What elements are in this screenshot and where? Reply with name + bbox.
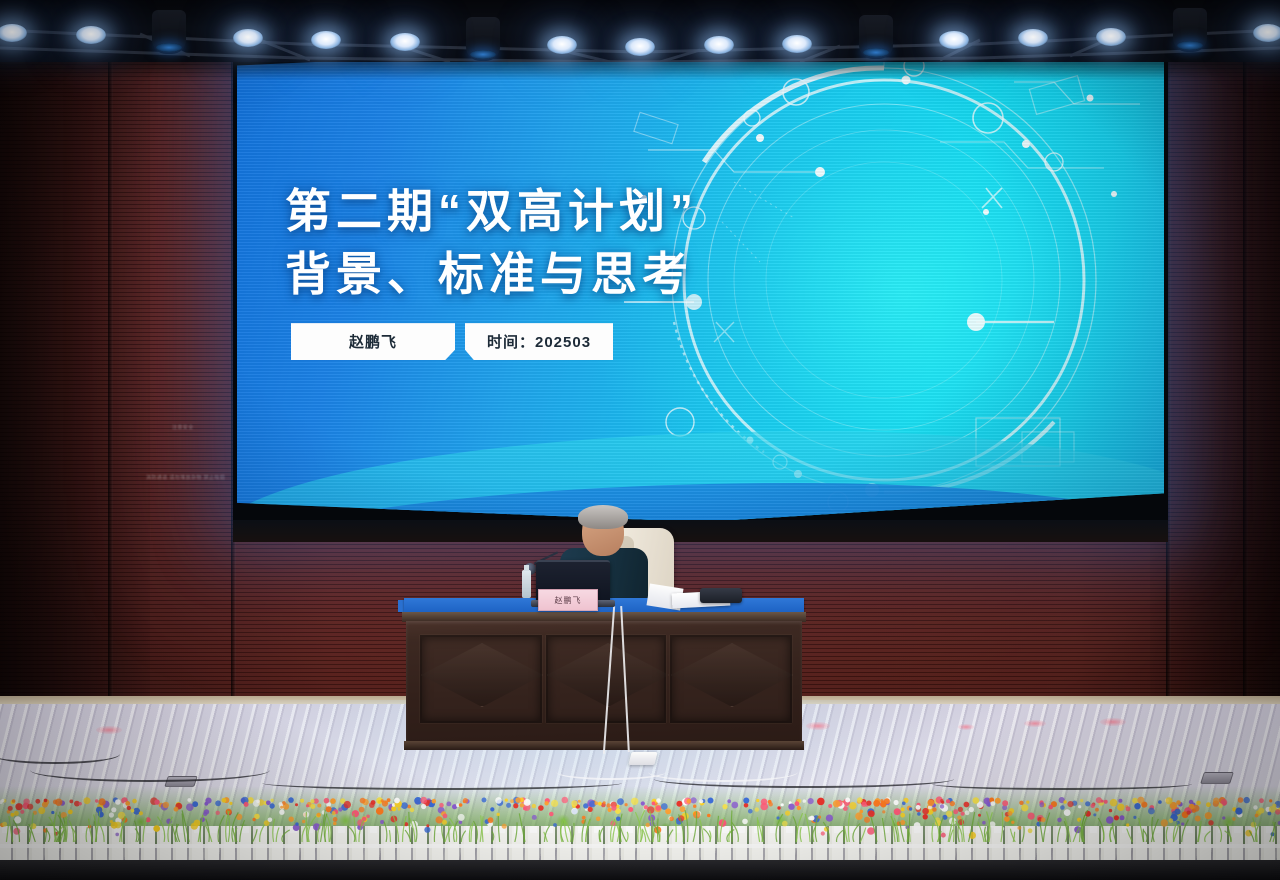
- floor-outlet-plate: [1200, 772, 1234, 784]
- speaker-hair: [578, 505, 628, 529]
- screen-lower-bezel: [233, 520, 1168, 542]
- moving-head-light: [152, 10, 186, 54]
- moving-head-light: [859, 15, 893, 59]
- planter-base-shadow: [0, 860, 1280, 880]
- power-strip: [628, 752, 657, 765]
- floor-light-spot: [1024, 720, 1046, 727]
- stage-light: [625, 38, 655, 56]
- stage-light: [939, 31, 969, 49]
- floor-light-spot: [96, 726, 122, 734]
- wall-shadow-right: [1150, 24, 1280, 714]
- picket-fence-rail: [0, 844, 1280, 848]
- moving-head-light: [1173, 8, 1207, 52]
- slide-title-line-2: 背景、标准与思考: [285, 243, 698, 306]
- stage-light: [782, 35, 812, 53]
- wall-sign-fire: 消防通道 请勿堆放杂物 禁止吸烟: [146, 474, 225, 481]
- floor-light-spot: [1100, 718, 1126, 726]
- stage-light: [1253, 24, 1280, 42]
- led-screen: 第二期“双高计划” 背景、标准与思考 赵鹏飞 时间：202503: [233, 30, 1168, 530]
- floor-light-spot: [958, 724, 974, 730]
- stage-light: [76, 26, 106, 44]
- slide-title-line-1: 第二期“双高计划”: [285, 180, 698, 243]
- stage-light: [547, 36, 577, 54]
- stage-light: [233, 29, 263, 47]
- wall-sign-notice: 注意安全: [172, 424, 194, 431]
- desk-nameplate: 赵鹏飞: [538, 589, 598, 611]
- stage-light: [1018, 29, 1048, 47]
- water-bottle: [522, 570, 531, 598]
- stage-photo-scene: 注意安全 消防通道 请勿堆放杂物 禁止吸烟: [0, 0, 1280, 880]
- badge-speaker-name: 赵鹏飞: [291, 323, 455, 360]
- flower-cluster: [0, 786, 1280, 842]
- flower-planter-row: [0, 786, 1280, 880]
- power-cable-floor: [648, 762, 798, 782]
- slide-text-block: 第二期“双高计划” 背景、标准与思考 赵鹏飞 时间：202503: [285, 180, 698, 360]
- floor-light-spot: [806, 722, 830, 730]
- moving-head-light: [466, 17, 500, 61]
- wall-shadow-left: [0, 24, 150, 714]
- stage-light: [1096, 28, 1126, 46]
- bag-case: [700, 588, 742, 603]
- stage-light: [390, 33, 420, 51]
- badge-time: 时间：202503: [465, 323, 613, 360]
- stage-light: [311, 31, 341, 49]
- slide-badge-row: 赵鹏飞 时间：202503: [291, 323, 698, 360]
- stage-light: [704, 36, 734, 54]
- floor-cable: [30, 758, 270, 782]
